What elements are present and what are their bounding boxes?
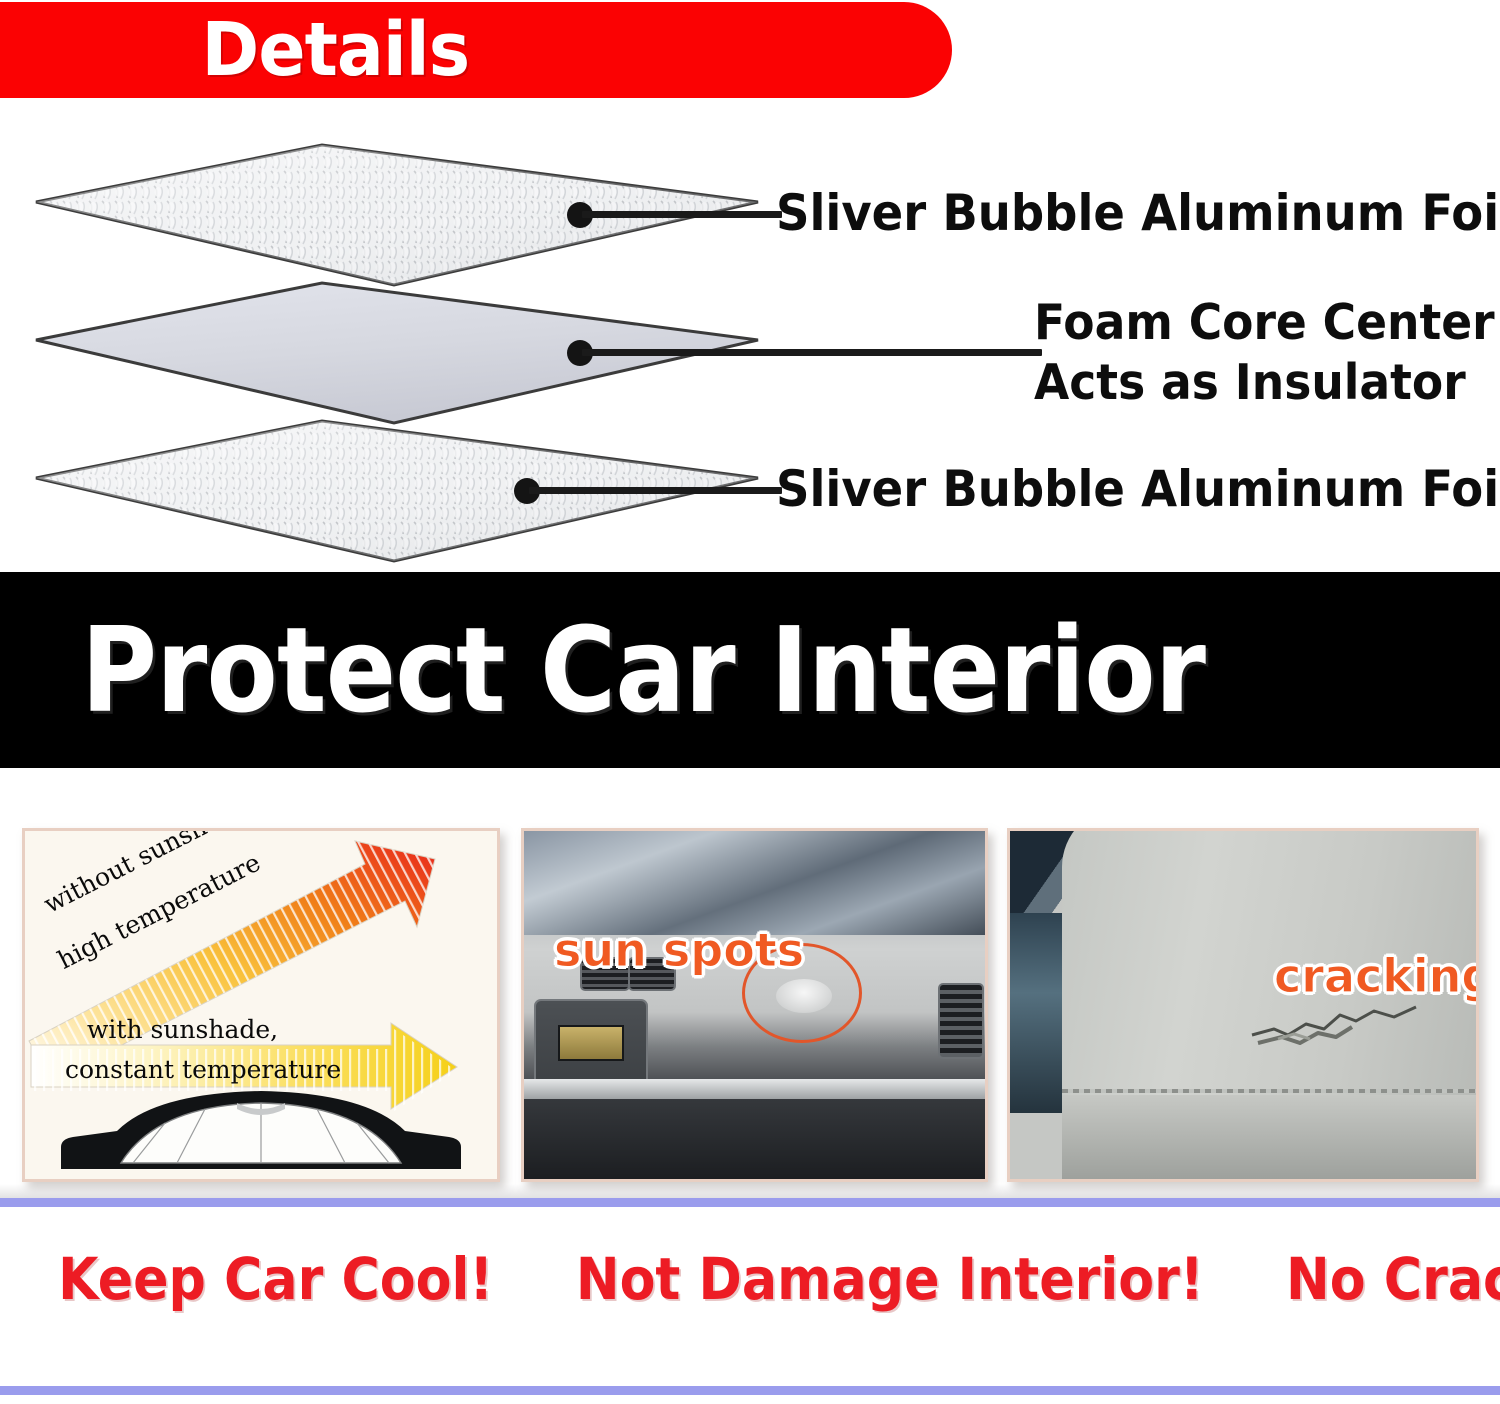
leader-line-top-foil xyxy=(582,211,782,218)
layer-label-foam-core-line2: Acts as Insulator xyxy=(1034,356,1466,411)
air-vent-icon xyxy=(938,983,984,1059)
caption-not-damage-interior: Not Damage Interior! xyxy=(576,1245,1204,1313)
leader-line-bottom-foil xyxy=(529,487,782,494)
leader-line-foam-core xyxy=(582,349,1042,356)
divider-top xyxy=(0,1198,1500,1207)
details-banner: Details xyxy=(0,2,952,98)
sheet-bottom-foil xyxy=(22,416,762,566)
layer-row-top-foil: Sliver Bubble Aluminum Foil xyxy=(0,140,1500,290)
divider-bottom xyxy=(0,1386,1500,1395)
panel-temperature-comparison: without sunshade , high temperature with… xyxy=(22,828,500,1182)
sheet-foam-core xyxy=(22,278,762,428)
sheet-top-foil xyxy=(22,140,762,290)
panel-shadow-band xyxy=(0,1184,1500,1198)
seat-lower-panel xyxy=(1062,1095,1476,1179)
protect-car-interior-banner: Protect Car Interior xyxy=(0,572,1500,768)
protect-banner-title: Protect Car Interior xyxy=(0,601,1205,739)
label-with-sunshade-line2: constant temperature xyxy=(65,1055,341,1084)
caption-no-cracking: No Cracking! xyxy=(1286,1245,1500,1313)
dashboard-trim xyxy=(524,1079,985,1099)
panel-cracking: cracking xyxy=(1007,828,1479,1182)
layers-diagram: Sliver Bubble Aluminum Foil Foam Core Ce… xyxy=(0,100,1500,570)
car-window xyxy=(1010,913,1066,1113)
seat-stitching xyxy=(1062,1089,1476,1093)
photo-panels: without sunshade , high temperature with… xyxy=(0,828,1500,1184)
windshield-glass xyxy=(524,831,985,935)
layer-row-foam-core: Foam Core Center Acts as Insulator xyxy=(0,278,1500,428)
caption-keep-car-cool: Keep Car Cool! xyxy=(58,1245,493,1313)
layer-label-top-foil: Sliver Bubble Aluminum Foil xyxy=(776,188,1500,239)
radio-screen xyxy=(558,1025,624,1061)
sun-spots-label: sun spots xyxy=(554,923,804,977)
bottom-captions: Keep Car Cool! Not Damage Interior! No C… xyxy=(0,1236,1500,1322)
cracking-label: cracking xyxy=(1274,949,1476,1003)
label-with-sunshade-line1: with sunshade, xyxy=(87,1015,278,1044)
panel-sun-spots: sun spots xyxy=(521,828,988,1182)
layer-label-bottom-foil: Sliver Bubble Aluminum Foil xyxy=(776,464,1500,515)
layer-label-foam-core-line1: Foam Core Center xyxy=(1034,296,1495,351)
dashboard-lower xyxy=(524,1099,985,1179)
page-title: Details xyxy=(201,7,751,93)
layer-row-bottom-foil: Sliver Bubble Aluminum Foil xyxy=(0,416,1500,566)
